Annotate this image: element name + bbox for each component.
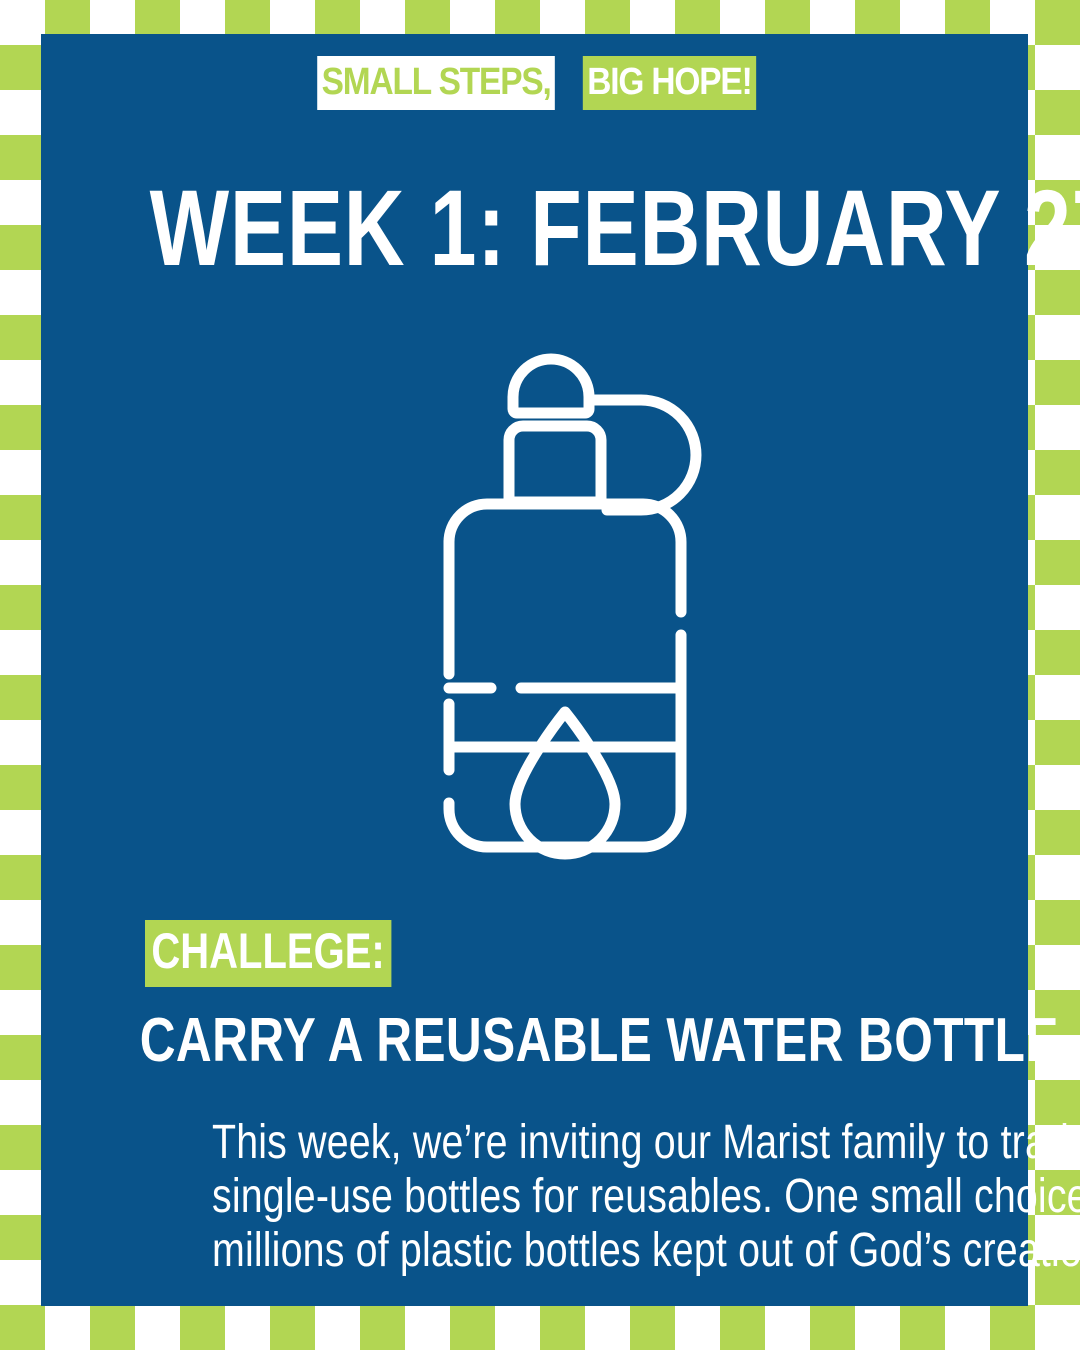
bottle-body-right-bottom [449,635,681,847]
water-bottle-icon [421,352,741,912]
body-line-3: millions of plastic bottles kept out of … [212,1224,950,1278]
brand-logo: SMALL STEPS,BIG HOPE! [41,56,1028,110]
challenge-label: CHALLEGE: [145,920,391,987]
challenge-label-row: CHALLEGE: [145,920,453,987]
challenge-body-copy: This week, we’re inviting our Marist fam… [131,1116,1031,1278]
logo-big-hope: BIG HOPE! [583,56,756,110]
bottle-neck [509,426,601,502]
bottle-cap-dome [513,359,589,413]
poster-canvas: SMALL STEPS,BIG HOPE! WEEK 1: FEBRUARY 2… [0,0,1080,1350]
water-droplet-icon [515,712,615,854]
body-line-1: This week, we’re inviting our Marist fam… [212,1116,950,1170]
body-line-2: single-use bottles for reusables. One sm… [212,1170,950,1224]
page-title: WEEK 1: FEBRUARY 27 [150,174,920,282]
logo-small-steps: SMALL STEPS, [317,56,555,110]
blue-content-panel: SMALL STEPS,BIG HOPE! WEEK 1: FEBRUARY 2… [41,34,1028,1306]
bottle-body-top [449,504,681,612]
challenge-headline: CARRY A REUSABLE WATER BOTTLE [140,1009,930,1073]
